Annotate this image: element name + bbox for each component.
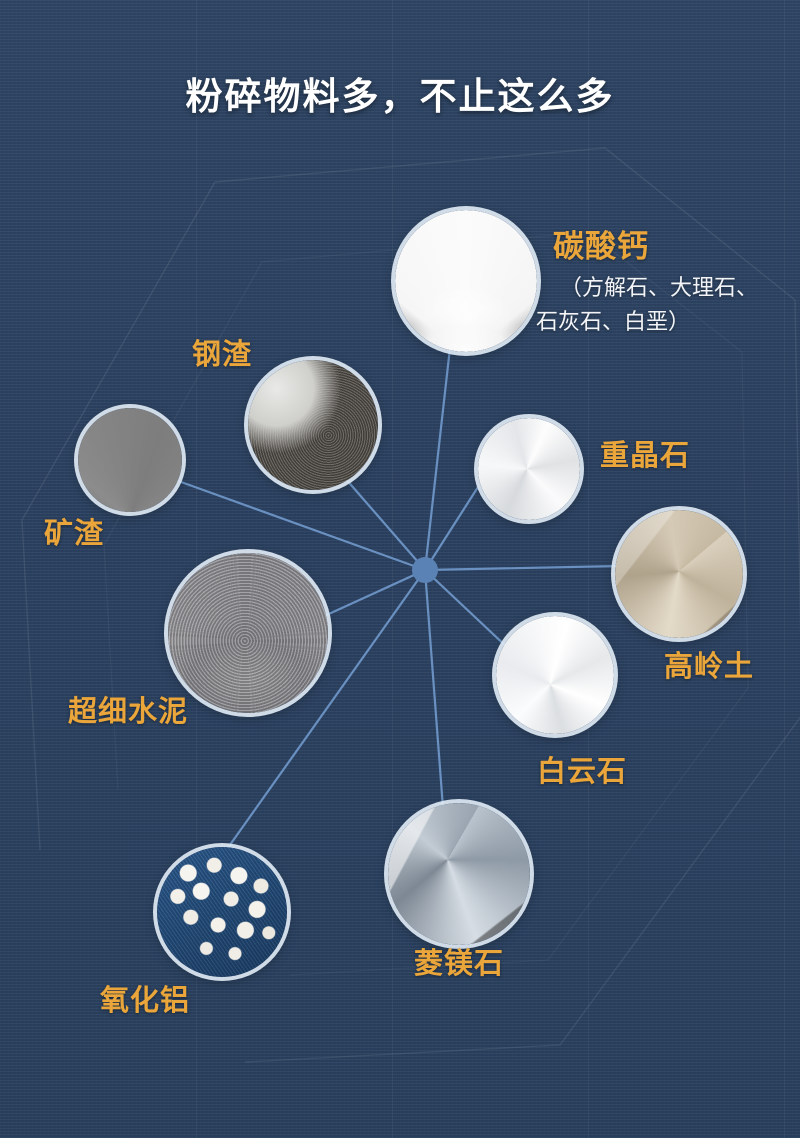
material-photo-ultrafine-cement[interactable] xyxy=(168,553,328,713)
material-label-carbonate: 碳酸钙 xyxy=(553,221,649,266)
center-node[interactable] xyxy=(412,557,438,583)
material-label-barite: 重晶石 xyxy=(600,432,690,474)
steel-slag-granules-image xyxy=(248,360,378,490)
connector-line-kaolin xyxy=(425,566,620,570)
material-photo-kaolin[interactable] xyxy=(615,510,743,638)
connector-line-slag xyxy=(170,478,425,570)
ultrafine-cement-powder-image xyxy=(168,553,328,713)
material-photo-barite[interactable] xyxy=(478,418,580,520)
barite-rocks-image xyxy=(478,418,580,520)
alumina-balls-image xyxy=(157,847,287,977)
material-photo-dolomite[interactable] xyxy=(496,616,614,734)
material-photo-magnesite[interactable] xyxy=(388,803,530,945)
material-photo-carbonate[interactable] xyxy=(395,210,537,352)
material-label-steel-slag: 钢渣 xyxy=(192,331,252,373)
connector-line-dolomite xyxy=(425,570,510,650)
page-title: 粉碎物料多，不止这么多 xyxy=(0,66,800,120)
material-label-dolomite: 白云石 xyxy=(537,748,627,790)
material-label-kaolin: 高岭土 xyxy=(664,643,754,685)
magnesite-rocks-image xyxy=(388,803,530,945)
material-photo-slag[interactable] xyxy=(78,408,182,512)
material-label-ultrafine-cement: 超细水泥 xyxy=(68,688,188,730)
carbonate-powder-image xyxy=(395,210,537,352)
material-label-magnesite: 菱镁石 xyxy=(414,940,504,982)
slag-powder-image xyxy=(78,408,182,512)
connector-line-magnesite xyxy=(425,570,443,808)
material-sublabel-carbonate-line1: （方解石、大理石、 xyxy=(560,272,758,306)
infographic-canvas: 粉碎物料多，不止这么多 碳酸钙 （方解石、大理石、 石灰石、白垩） 钢渣 矿渣 … xyxy=(0,0,800,1138)
material-label-slag: 矿渣 xyxy=(44,510,104,552)
dolomite-crystals-image xyxy=(496,616,614,734)
material-label-alumina: 氧化铝 xyxy=(100,977,190,1019)
material-sublabel-carbonate-line2: 石灰石、白垩） xyxy=(536,306,690,340)
material-photo-steel-slag[interactable] xyxy=(248,360,378,490)
kaolin-rocks-image xyxy=(615,510,743,638)
material-photo-alumina[interactable] xyxy=(157,847,287,977)
